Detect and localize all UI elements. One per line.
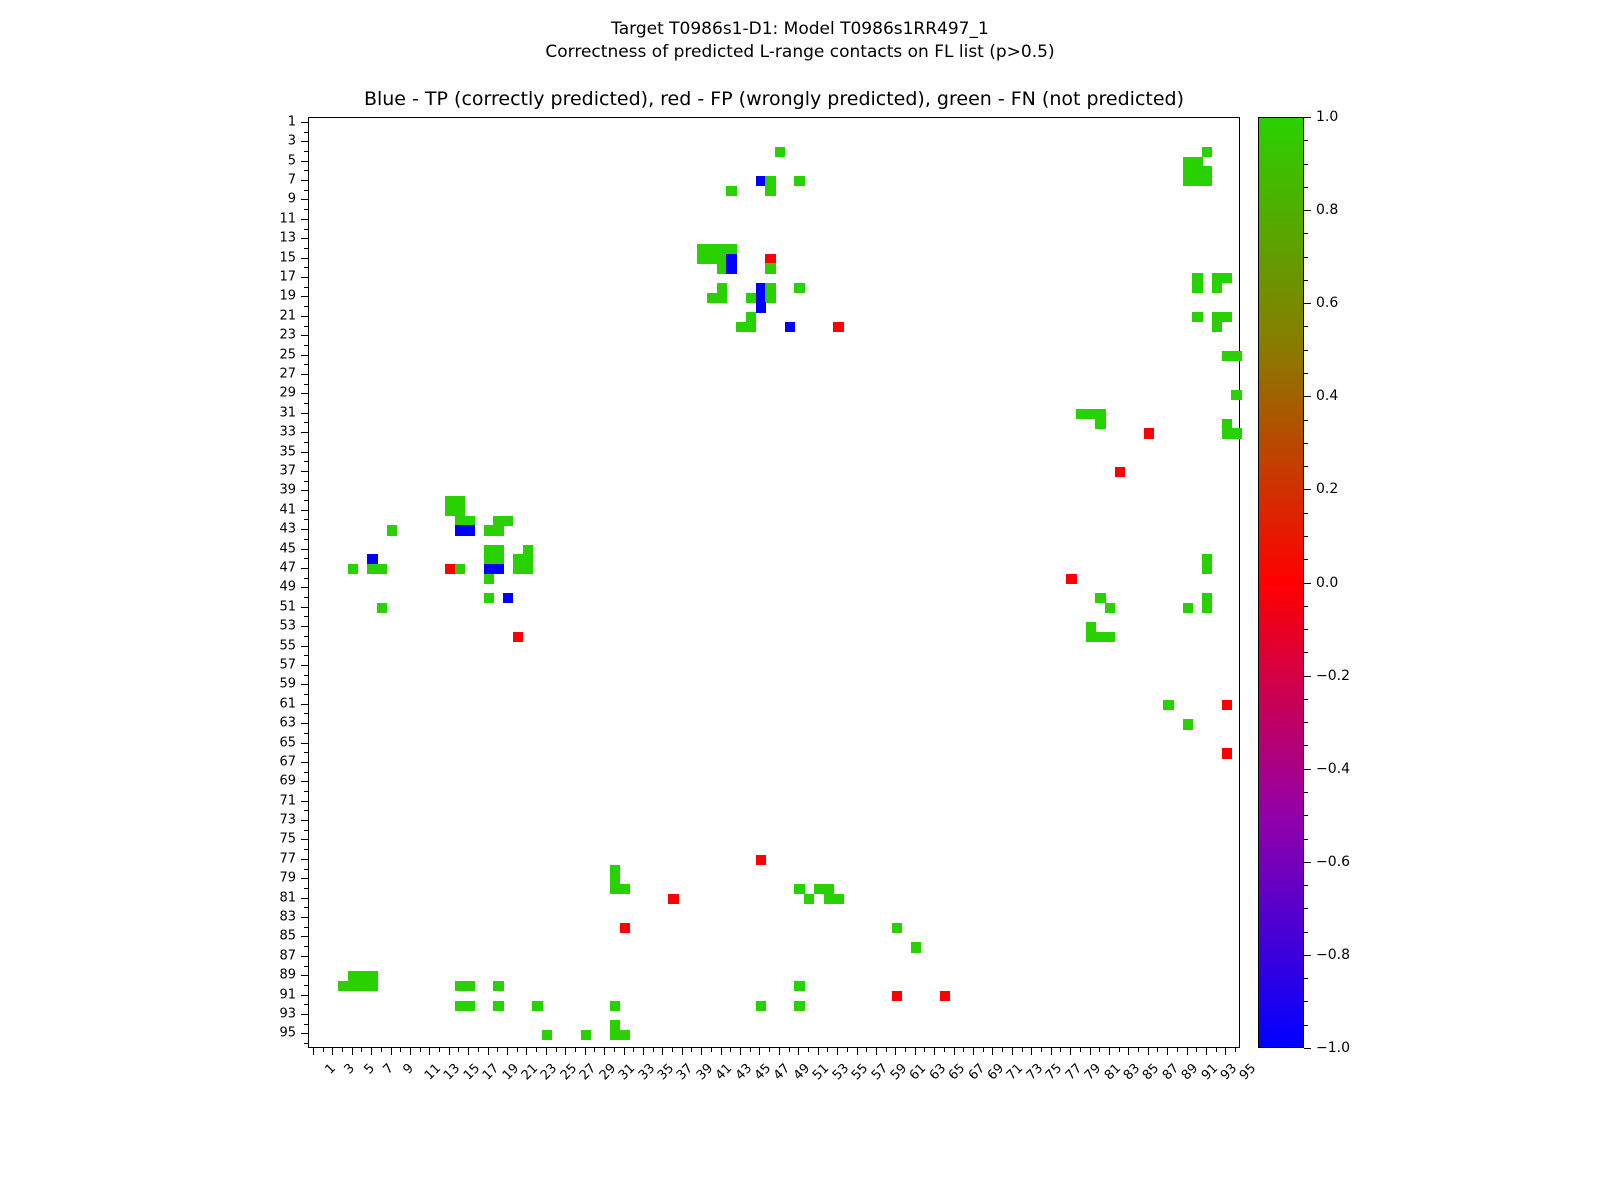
contact-cell bbox=[620, 884, 630, 894]
y-axis-tick bbox=[301, 355, 308, 356]
y-axis-tick bbox=[301, 587, 308, 588]
x-axis-tick bbox=[1235, 1048, 1236, 1052]
y-axis-tick bbox=[304, 907, 308, 908]
contact-cell bbox=[785, 322, 795, 332]
contact-cell bbox=[1231, 351, 1241, 361]
colorbar-minor-tick bbox=[1304, 559, 1308, 560]
colorbar-minor-tick bbox=[1304, 373, 1308, 374]
contact-cell bbox=[940, 991, 950, 1001]
colorbar-tick-label: 1.0 bbox=[1316, 109, 1338, 125]
y-axis-label: 35 bbox=[279, 444, 296, 459]
x-axis-tick bbox=[546, 1048, 547, 1055]
y-axis-tick bbox=[304, 558, 308, 559]
x-axis-tick bbox=[585, 1048, 586, 1055]
contact-cell bbox=[523, 564, 533, 574]
x-axis-tick bbox=[924, 1048, 925, 1052]
contact-cell bbox=[1222, 700, 1232, 710]
colorbar-major-tick bbox=[1304, 489, 1311, 490]
y-axis-label: 25 bbox=[279, 347, 296, 362]
y-axis-tick bbox=[301, 743, 308, 744]
y-axis-tick bbox=[304, 733, 308, 734]
colorbar-minor-tick bbox=[1304, 443, 1308, 444]
y-axis-label: 51 bbox=[279, 599, 296, 614]
contact-cell bbox=[493, 981, 503, 991]
contact-cell bbox=[736, 322, 746, 332]
x-axis-tick bbox=[1138, 1048, 1139, 1052]
y-axis-tick bbox=[304, 830, 308, 831]
y-axis-label: 31 bbox=[279, 405, 296, 420]
y-axis-tick bbox=[301, 878, 308, 879]
x-axis-tick bbox=[1012, 1048, 1013, 1055]
colorbar-minor-tick bbox=[1304, 1025, 1308, 1026]
y-axis-label: 19 bbox=[279, 289, 296, 304]
x-axis-label: 3 bbox=[342, 1061, 358, 1077]
y-axis-tick bbox=[304, 869, 308, 870]
colorbar-tick-label: 0.6 bbox=[1316, 295, 1338, 311]
y-axis-label: 57 bbox=[279, 657, 296, 672]
x-axis-tick bbox=[983, 1048, 984, 1052]
x-axis-tick bbox=[701, 1048, 702, 1055]
colorbar-tick-label: 0.2 bbox=[1316, 481, 1338, 497]
contact-cell bbox=[542, 1030, 552, 1040]
contact-cell bbox=[746, 312, 756, 322]
y-axis-label: 65 bbox=[279, 735, 296, 750]
y-axis-label: 27 bbox=[279, 366, 296, 381]
colorbar-minor-tick bbox=[1304, 932, 1308, 933]
contact-cell bbox=[911, 942, 921, 952]
x-axis-tick bbox=[594, 1048, 595, 1052]
colorbar-minor-tick bbox=[1304, 629, 1308, 630]
colorbar-minor-tick bbox=[1304, 1001, 1308, 1002]
x-axis-tick bbox=[565, 1048, 566, 1055]
y-axis-tick bbox=[301, 432, 308, 433]
x-axis-tick bbox=[1022, 1048, 1023, 1052]
y-axis-label: 69 bbox=[279, 774, 296, 789]
colorbar-tick-label: −0.4 bbox=[1316, 761, 1350, 777]
x-axis-label: 5 bbox=[361, 1061, 377, 1077]
y-axis-tick bbox=[304, 927, 308, 928]
x-axis-tick bbox=[1090, 1048, 1091, 1055]
y-axis-tick bbox=[304, 519, 308, 520]
contact-cell bbox=[765, 263, 775, 273]
contact-cell bbox=[464, 525, 474, 535]
x-axis-tick bbox=[1109, 1048, 1110, 1055]
colorbar-minor-tick bbox=[1304, 350, 1308, 351]
y-axis-label: 9 bbox=[288, 192, 296, 207]
y-axis-tick bbox=[304, 170, 308, 171]
x-axis-tick bbox=[391, 1048, 392, 1055]
y-axis-tick bbox=[301, 161, 308, 162]
contact-cell bbox=[1231, 428, 1241, 438]
y-axis-label: 53 bbox=[279, 619, 296, 634]
colorbar-tick-label: 0.4 bbox=[1316, 388, 1338, 404]
contact-cell bbox=[892, 991, 902, 1001]
colorbar-tick-label: −1.0 bbox=[1316, 1040, 1350, 1056]
x-axis-tick bbox=[876, 1048, 877, 1055]
y-axis-label: 75 bbox=[279, 832, 296, 847]
x-axis: 1357911131517192123252729313335373941434… bbox=[308, 1048, 1240, 1198]
x-axis-tick bbox=[633, 1048, 634, 1052]
colorbar-ticks: 1.00.80.60.40.20.0−0.2−0.4−0.6−0.8−1.0 bbox=[1258, 117, 1378, 1048]
y-axis-tick bbox=[304, 209, 308, 210]
x-axis-tick bbox=[488, 1048, 489, 1055]
y-axis-tick bbox=[301, 490, 308, 491]
contact-cell bbox=[1105, 632, 1115, 642]
y-axis-label: 61 bbox=[279, 696, 296, 711]
contact-cell bbox=[1202, 176, 1212, 186]
y-axis-tick bbox=[301, 393, 308, 394]
contact-cell bbox=[493, 1001, 503, 1011]
contact-cell bbox=[484, 593, 494, 603]
y-axis-tick bbox=[304, 248, 308, 249]
y-axis-tick bbox=[304, 888, 308, 889]
y-axis-tick bbox=[301, 839, 308, 840]
x-axis-tick bbox=[711, 1048, 712, 1052]
y-axis-tick bbox=[304, 1043, 308, 1044]
y-axis-tick bbox=[301, 665, 308, 666]
y-axis-label: 91 bbox=[279, 987, 296, 1002]
y-axis-label: 43 bbox=[279, 522, 296, 537]
contact-cell bbox=[1222, 273, 1232, 283]
y-axis-tick bbox=[301, 471, 308, 472]
contact-cell bbox=[892, 923, 902, 933]
colorbar-minor-tick bbox=[1304, 466, 1308, 467]
y-axis-tick bbox=[304, 578, 308, 579]
x-axis-tick bbox=[313, 1048, 314, 1055]
x-axis-tick bbox=[857, 1048, 858, 1055]
x-axis-tick bbox=[886, 1048, 887, 1052]
y-axis-label: 39 bbox=[279, 483, 296, 498]
contact-cell bbox=[1222, 312, 1232, 322]
x-axis-tick bbox=[1157, 1048, 1158, 1052]
contact-cell bbox=[377, 603, 387, 613]
x-axis-tick bbox=[323, 1048, 324, 1052]
y-axis-tick bbox=[304, 1024, 308, 1025]
contact-cell bbox=[1192, 312, 1202, 322]
contact-cell bbox=[620, 923, 630, 933]
y-axis-label: 41 bbox=[279, 502, 296, 517]
y-axis-tick bbox=[301, 199, 308, 200]
x-axis-tick bbox=[837, 1048, 838, 1055]
x-axis-tick bbox=[1031, 1048, 1032, 1055]
y-axis-tick bbox=[301, 277, 308, 278]
colorbar-minor-tick bbox=[1304, 745, 1308, 746]
contact-cell bbox=[765, 186, 775, 196]
y-axis-label: 23 bbox=[279, 328, 296, 343]
x-axis-tick bbox=[779, 1048, 780, 1055]
y-axis-label: 83 bbox=[279, 910, 296, 925]
x-axis-tick bbox=[1167, 1048, 1168, 1055]
y-axis-tick bbox=[304, 966, 308, 967]
colorbar-tick-label: 0.0 bbox=[1316, 575, 1338, 591]
y-axis-tick bbox=[304, 810, 308, 811]
y-axis-tick bbox=[301, 762, 308, 763]
y-axis-tick bbox=[301, 529, 308, 530]
y-axis-tick bbox=[301, 975, 308, 976]
x-axis-tick bbox=[789, 1048, 790, 1052]
axes-title-legend: Blue - TP (correctly predicted), red - F… bbox=[308, 88, 1240, 110]
contact-cell bbox=[756, 855, 766, 865]
y-axis-tick bbox=[304, 694, 308, 695]
y-axis-tick bbox=[304, 306, 308, 307]
y-axis-tick bbox=[301, 684, 308, 685]
y-axis-label: 7 bbox=[288, 173, 296, 188]
y-axis-tick bbox=[304, 713, 308, 714]
colorbar-minor-tick bbox=[1304, 885, 1308, 886]
colorbar-minor-tick bbox=[1304, 233, 1308, 234]
contact-cell bbox=[1202, 147, 1212, 157]
y-axis-tick bbox=[301, 781, 308, 782]
x-axis-tick bbox=[1099, 1048, 1100, 1052]
y-axis-label: 33 bbox=[279, 425, 296, 440]
colorbar-major-tick bbox=[1304, 1048, 1311, 1049]
y-axis-tick bbox=[301, 141, 308, 142]
colorbar-minor-tick bbox=[1304, 164, 1308, 165]
x-axis-tick bbox=[847, 1048, 848, 1052]
suptitle-line-1: Target T0986s1-D1: Model T0986s1RR497_1 bbox=[0, 18, 1600, 41]
contact-cell bbox=[794, 283, 804, 293]
colorbar-tick-label: −0.2 bbox=[1316, 668, 1350, 684]
contact-cell bbox=[377, 564, 387, 574]
x-axis-tick bbox=[740, 1048, 741, 1055]
x-axis-tick bbox=[721, 1048, 722, 1055]
x-axis-tick bbox=[429, 1048, 430, 1055]
y-axis-tick bbox=[301, 820, 308, 821]
x-axis-tick bbox=[769, 1048, 770, 1052]
colorbar-minor-tick bbox=[1304, 513, 1308, 514]
y-axis-tick bbox=[304, 190, 308, 191]
contact-cell bbox=[464, 1001, 474, 1011]
colorbar-minor-tick bbox=[1304, 722, 1308, 723]
y-axis-tick bbox=[301, 1014, 308, 1015]
y-axis-tick bbox=[304, 675, 308, 676]
x-axis-tick bbox=[556, 1048, 557, 1052]
y-axis-tick bbox=[301, 995, 308, 996]
y-axis-tick bbox=[304, 597, 308, 598]
x-axis-tick bbox=[973, 1048, 974, 1055]
x-axis-label: 95 bbox=[1237, 1061, 1259, 1083]
x-axis-tick bbox=[1148, 1048, 1149, 1055]
x-axis-tick bbox=[1177, 1048, 1178, 1052]
x-axis-tick bbox=[1119, 1048, 1120, 1052]
contact-map-plot-area[interactable] bbox=[308, 117, 1240, 1048]
contact-cell bbox=[464, 981, 474, 991]
x-axis-label: 1 bbox=[322, 1061, 338, 1077]
colorbar-minor-tick bbox=[1304, 839, 1308, 840]
colorbar-major-tick bbox=[1304, 583, 1311, 584]
contact-map-figure: Target T0986s1-D1: Model T0986s1RR497_1 … bbox=[0, 0, 1600, 1200]
y-axis-label: 85 bbox=[279, 929, 296, 944]
y-axis-tick bbox=[301, 607, 308, 608]
y-axis-label: 21 bbox=[279, 308, 296, 323]
y-axis-tick bbox=[304, 267, 308, 268]
y-axis-tick bbox=[304, 384, 308, 385]
x-axis-tick bbox=[410, 1048, 411, 1055]
suptitle-line-2: Correctness of predicted L-range contact… bbox=[0, 41, 1600, 64]
contact-cell bbox=[833, 894, 843, 904]
contact-cell bbox=[610, 1001, 620, 1011]
x-axis-tick bbox=[1002, 1048, 1003, 1052]
x-axis-tick bbox=[536, 1048, 537, 1052]
x-axis-tick bbox=[468, 1048, 469, 1055]
y-axis-tick bbox=[304, 229, 308, 230]
y-axis-label: 87 bbox=[279, 948, 296, 963]
x-axis-tick bbox=[682, 1048, 683, 1055]
x-axis-tick bbox=[963, 1048, 964, 1052]
x-axis-tick bbox=[1080, 1048, 1081, 1052]
x-axis-tick bbox=[653, 1048, 654, 1052]
contact-cell bbox=[523, 545, 533, 555]
x-axis-tick bbox=[342, 1048, 343, 1052]
colorbar-tick-label: 0.8 bbox=[1316, 202, 1338, 218]
y-axis-label: 47 bbox=[279, 560, 296, 575]
colorbar-minor-tick bbox=[1304, 978, 1308, 979]
x-axis-tick bbox=[895, 1048, 896, 1055]
colorbar-minor-tick bbox=[1304, 792, 1308, 793]
x-axis-tick bbox=[332, 1048, 333, 1055]
contact-cell bbox=[717, 293, 727, 303]
y-axis-label: 63 bbox=[279, 716, 296, 731]
y-axis-tick bbox=[301, 704, 308, 705]
colorbar-minor-tick bbox=[1304, 187, 1308, 188]
y-axis-label: 49 bbox=[279, 580, 296, 595]
contact-cell bbox=[1144, 428, 1154, 438]
y-axis-label: 79 bbox=[279, 871, 296, 886]
y-axis-label: 15 bbox=[279, 250, 296, 265]
colorbar-minor-tick bbox=[1304, 652, 1308, 653]
contact-cell bbox=[484, 574, 494, 584]
y-axis-label: 37 bbox=[279, 463, 296, 478]
x-axis-tick bbox=[1128, 1048, 1129, 1055]
y-axis-tick bbox=[301, 219, 308, 220]
y-axis-tick bbox=[301, 374, 308, 375]
y-axis-tick bbox=[301, 917, 308, 918]
contact-cell bbox=[484, 525, 494, 535]
x-axis-tick bbox=[497, 1048, 498, 1052]
x-axis-tick bbox=[1051, 1048, 1052, 1055]
y-axis-tick bbox=[301, 316, 308, 317]
y-axis-label: 81 bbox=[279, 890, 296, 905]
y-axis-tick bbox=[304, 616, 308, 617]
y-axis-tick bbox=[301, 801, 308, 802]
y-axis-tick bbox=[301, 723, 308, 724]
x-axis-tick bbox=[400, 1048, 401, 1052]
x-axis-tick bbox=[381, 1048, 382, 1052]
y-axis-tick bbox=[304, 442, 308, 443]
contact-cell bbox=[794, 176, 804, 186]
contact-cell bbox=[765, 293, 775, 303]
x-axis-tick bbox=[915, 1048, 916, 1055]
contact-cell bbox=[1231, 390, 1241, 400]
y-axis-tick bbox=[301, 568, 308, 569]
y-axis-tick bbox=[304, 461, 308, 462]
colorbar-major-tick bbox=[1304, 862, 1311, 863]
y-axis-label: 13 bbox=[279, 231, 296, 246]
contact-cell bbox=[1183, 719, 1193, 729]
x-axis-tick bbox=[1041, 1048, 1042, 1052]
x-axis-label: 7 bbox=[381, 1061, 397, 1077]
contact-cell bbox=[1202, 564, 1212, 574]
y-axis-tick bbox=[304, 946, 308, 947]
x-axis-tick bbox=[954, 1048, 955, 1055]
y-axis-tick bbox=[304, 481, 308, 482]
x-axis-tick bbox=[1070, 1048, 1071, 1055]
y-axis-tick bbox=[301, 238, 308, 239]
colorbar-minor-tick bbox=[1304, 908, 1308, 909]
colorbar-minor-tick bbox=[1304, 699, 1308, 700]
y-axis-label: 5 bbox=[288, 153, 296, 168]
y-axis-tick bbox=[301, 1033, 308, 1034]
x-axis-tick bbox=[1060, 1048, 1061, 1052]
y-axis-tick bbox=[304, 752, 308, 753]
contact-cell bbox=[1163, 700, 1173, 710]
x-axis-tick bbox=[992, 1048, 993, 1055]
x-axis-tick bbox=[643, 1048, 644, 1055]
y-axis-tick bbox=[304, 849, 308, 850]
contact-cell bbox=[367, 981, 377, 991]
colorbar-minor-tick bbox=[1304, 420, 1308, 421]
figure-suptitle: Target T0986s1-D1: Model T0986s1RR497_1 … bbox=[0, 18, 1600, 64]
x-axis-tick bbox=[458, 1048, 459, 1052]
y-axis-tick bbox=[304, 132, 308, 133]
contact-cell bbox=[668, 894, 678, 904]
colorbar-major-tick bbox=[1304, 396, 1311, 397]
y-axis-tick bbox=[304, 500, 308, 501]
y-axis-tick bbox=[304, 403, 308, 404]
x-axis-tick bbox=[905, 1048, 906, 1052]
x-axis-tick bbox=[662, 1048, 663, 1055]
x-axis-tick bbox=[507, 1048, 508, 1055]
colorbar-minor-tick bbox=[1304, 280, 1308, 281]
x-axis-tick bbox=[352, 1048, 353, 1055]
y-axis-label: 95 bbox=[279, 1026, 296, 1041]
contact-cell bbox=[513, 632, 523, 642]
x-axis-tick bbox=[827, 1048, 828, 1052]
y-axis-label: 29 bbox=[279, 386, 296, 401]
contact-cell bbox=[1222, 748, 1232, 758]
y-axis-tick bbox=[304, 1004, 308, 1005]
y-axis-label: 89 bbox=[279, 968, 296, 983]
contact-cell bbox=[756, 1001, 766, 1011]
y-axis-tick bbox=[304, 791, 308, 792]
contact-cell bbox=[726, 186, 736, 196]
colorbar-major-tick bbox=[1304, 955, 1311, 956]
x-axis-tick bbox=[818, 1048, 819, 1055]
y-axis-label: 59 bbox=[279, 677, 296, 692]
colorbar-tick-label: −0.8 bbox=[1316, 947, 1350, 963]
x-axis-tick bbox=[361, 1048, 362, 1052]
x-axis-tick bbox=[371, 1048, 372, 1055]
colorbar-minor-tick bbox=[1304, 815, 1308, 816]
x-axis-tick bbox=[517, 1048, 518, 1052]
y-axis-tick bbox=[304, 655, 308, 656]
colorbar-minor-tick bbox=[1304, 606, 1308, 607]
y-axis-label: 11 bbox=[279, 211, 296, 226]
x-axis-tick bbox=[575, 1048, 576, 1052]
x-axis-tick bbox=[526, 1048, 527, 1055]
colorbar-minor-tick bbox=[1304, 326, 1308, 327]
contact-cell bbox=[804, 894, 814, 904]
y-axis-label: 3 bbox=[288, 134, 296, 149]
colorbar-major-tick bbox=[1304, 117, 1311, 118]
contact-cell bbox=[1222, 351, 1232, 361]
contact-cell bbox=[532, 1001, 542, 1011]
contact-cell bbox=[833, 322, 843, 332]
contact-cell bbox=[455, 564, 465, 574]
contact-cell bbox=[387, 525, 397, 535]
contact-cell bbox=[1212, 283, 1222, 293]
contact-cell bbox=[1212, 322, 1222, 332]
